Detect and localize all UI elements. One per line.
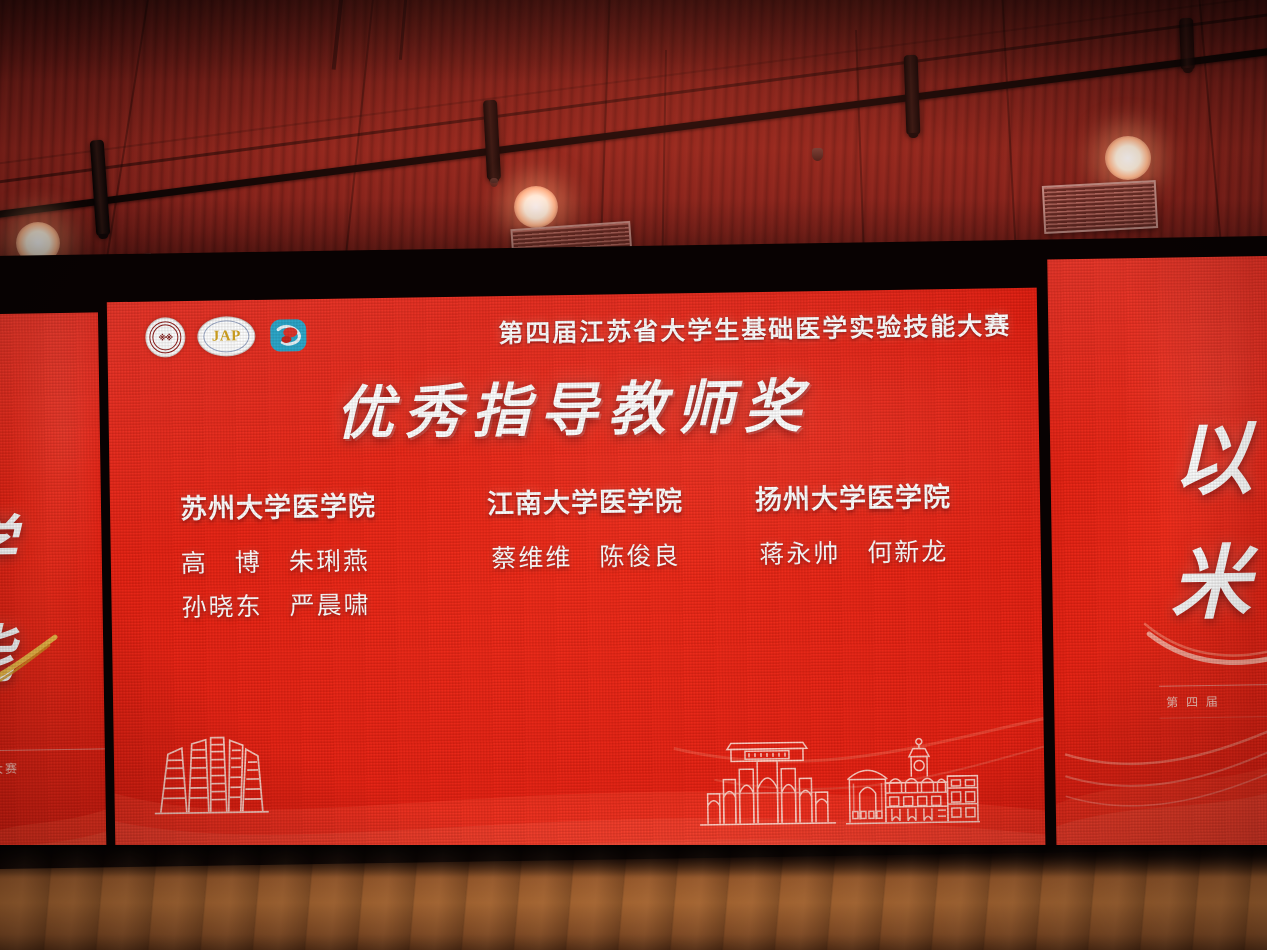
teal-mark-logo-icon [267, 315, 310, 356]
school-name: 苏州大学医学院 [180, 483, 453, 526]
competition-title: 第四届江苏省大学生基础医学实验技能大赛 [321, 306, 1015, 353]
panel-sheen [0, 312, 107, 880]
winner-names: 孙晓东 严晨啸 [181, 582, 454, 630]
stage-floor [0, 845, 1267, 950]
winner-group: 苏州大学医学院 高 博 朱琍燕 孙晓东 严晨啸 [162, 483, 454, 630]
led-video-wall: 学 能 能大赛 [0, 236, 1267, 896]
screen-header: ※※ JAP 第四届江苏省大学生基础医学实 [145, 304, 1016, 358]
winner-group: 扬州大学医学院 蒋永帅 何新龙 [718, 474, 990, 577]
floor-shadow [0, 845, 1267, 879]
right-panel-footer-text: 第 四 届 [1166, 693, 1220, 711]
led-panel-left: 学 能 能大赛 [0, 312, 107, 880]
stage-photo-scene: 学 能 能大赛 [0, 0, 1267, 950]
winner-names: 蔡维维 陈俊良 [456, 534, 717, 582]
led-panel-right: 以 米 第 四 届 [1047, 256, 1267, 875]
winner-names: 高 博 朱琍燕 [181, 538, 454, 586]
winner-group: 江南大学医学院 蔡维维 陈俊良 [455, 479, 717, 582]
school-name: 扬州大学医学院 [718, 474, 989, 517]
left-panel-gold-swoosh [0, 631, 84, 703]
left-panel-footer-text: 能大赛 [0, 760, 19, 778]
school-name: 江南大学医学院 [455, 479, 716, 522]
jap-logo-text: JAP [212, 328, 241, 345]
award-title: 优秀指导教师奖 [108, 356, 1039, 455]
campus-buildings-icon [689, 734, 980, 831]
left-panel-char-1: 学 [0, 494, 16, 585]
right-panel-rule-bottom [1159, 716, 1267, 719]
circular-seal-logo-icon: ※※ [145, 317, 186, 358]
winners-list: 苏州大学医学院 高 博 朱琍燕 孙晓东 严晨啸 江南大学医学院 蔡维维 陈俊良 … [162, 474, 990, 629]
right-panel-char-1: 以 [1171, 394, 1253, 511]
led-panel-center: ※※ JAP 第四届江苏省大学生基础医学实 [107, 288, 1046, 888]
seal-glyphs: ※※ [146, 318, 185, 357]
jap-oval-logo-icon: JAP [197, 316, 256, 357]
center-panel-content: ※※ JAP 第四届江苏省大学生基础医学实 [107, 288, 1046, 888]
left-panel-rule [0, 748, 107, 751]
stadium-building-icon [148, 731, 275, 819]
right-panel-swoosh [1143, 611, 1267, 694]
winner-names: 蒋永帅 何新龙 [719, 529, 990, 577]
